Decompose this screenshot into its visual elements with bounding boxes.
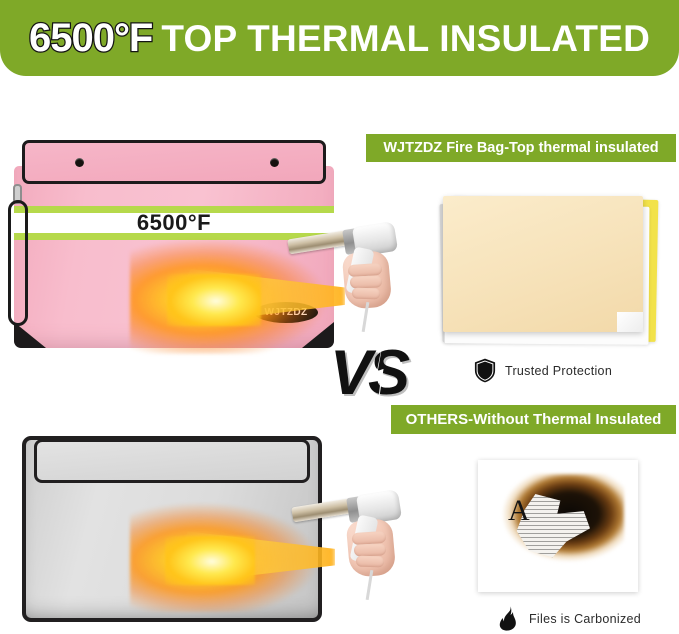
finger	[352, 288, 380, 300]
burnt-document: A	[478, 460, 638, 592]
bag-temperature-label: 6500°F	[14, 206, 334, 240]
caption-files-carbonized-text: Files is Carbonized	[529, 612, 641, 626]
bag-flap	[22, 140, 326, 184]
label-wjtzdz-bag: WJTZDZ Fire Bag-Top thermal insulated	[366, 134, 676, 162]
caption-trusted-protection: Trusted Protection	[474, 358, 612, 383]
versus-divider: VS	[330, 330, 426, 416]
blowtorch-icon-bottom	[292, 486, 400, 586]
document-sheet-top	[443, 196, 643, 332]
finger	[354, 543, 386, 556]
label-others-bag-text: OTHERS-Without Thermal Insulated	[406, 411, 662, 428]
snap-button-icon	[75, 158, 84, 167]
bag-flap	[34, 439, 310, 483]
shield-icon	[474, 358, 496, 383]
wjtzdz-fire-bag-pink: 6500°F WJTZDZ	[14, 140, 334, 348]
label-wjtzdz-bag-text: WJTZDZ Fire Bag-Top thermal insulated	[383, 140, 658, 156]
header-temperature: 6500°F	[29, 16, 152, 61]
snap-button-icon	[270, 158, 279, 167]
document-fold	[617, 312, 643, 332]
blowtorch-icon-top	[288, 218, 398, 322]
versus-text: VS	[330, 330, 406, 416]
flame-icon	[498, 606, 520, 631]
finger	[356, 556, 384, 568]
header-banner: 6500°F TOP THERMAL INSULATED	[0, 0, 679, 76]
caption-files-carbonized: Files is Carbonized	[498, 606, 641, 631]
paper-letter: A	[508, 496, 530, 526]
document-stack-intact	[441, 196, 659, 348]
others-fire-bag-gray	[22, 436, 322, 622]
wrist-strap-icon	[4, 182, 34, 327]
finger	[350, 275, 382, 288]
page-title: TOP THERMAL INSULATED	[161, 20, 650, 57]
strap-loop	[8, 200, 28, 326]
caption-trusted-protection-text: Trusted Protection	[505, 364, 612, 378]
label-others-bag: OTHERS-Without Thermal Insulated	[391, 405, 676, 434]
